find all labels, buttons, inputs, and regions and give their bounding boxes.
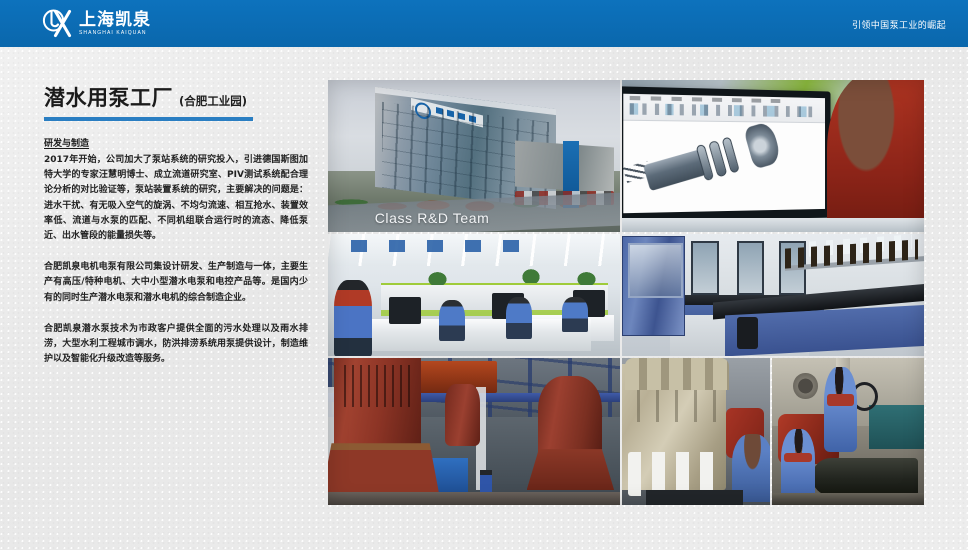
slide-header-bar: 上海凯泉 SHANGHAI KAIQUAN 引领中国泵工业的崛起 xyxy=(0,0,968,47)
photo-worker-assembly xyxy=(772,358,924,505)
photo-testing-laboratory xyxy=(622,234,924,356)
logo-brand-cn: 上海凯泉 xyxy=(79,12,151,29)
title-underline-rule xyxy=(44,117,253,121)
photo-caption-rd-team: Class R&D Team xyxy=(375,210,490,226)
image-collage: Class R&D Team xyxy=(328,80,924,505)
body-paragraph-3: 合肥凯泉潜水泵技术为市政客户提供全面的污水处理以及雨水排涝，大型水利工程城市调水… xyxy=(44,322,308,368)
section-heading: 研发与制造 xyxy=(44,136,308,149)
title-subtitle: (合肥工业园) xyxy=(179,93,247,109)
text-column: 潜水用泵工厂 (合肥工业园) 研发与制造 2017年开始，公司加大了泵站系统的研… xyxy=(44,82,308,367)
photo-engineering-office xyxy=(328,234,620,356)
photo-cad-workstation xyxy=(622,80,924,232)
company-logo: 上海凯泉 SHANGHAI KAIQUAN xyxy=(42,9,151,38)
body-paragraph-1: 2017年开始，公司加大了泵站系统的研究投入，引进德国斯图加特大学的专家汪慧明博… xyxy=(44,153,308,244)
photo-diesel-engine-unit xyxy=(622,358,770,505)
title-main: 潜水用泵工厂 xyxy=(44,82,173,112)
page-title: 潜水用泵工厂 (合肥工业园) xyxy=(44,82,308,112)
kaiquan-k-monogram-icon xyxy=(42,9,72,38)
presentation-slide: 上海凯泉 SHANGHAI KAIQUAN 引领中国泵工业的崛起 潜水用泵工厂 … xyxy=(0,0,968,550)
photo-headquarters-building: Class R&D Team xyxy=(328,80,620,232)
photo-pump-assembly-hall xyxy=(328,358,620,505)
body-paragraph-2: 合肥凯泉电机电泵有限公司集设计研发、生产制造与一体，主要生产有高压/特种电机、大… xyxy=(44,260,308,306)
logo-brand-en: SHANGHAI KAIQUAN xyxy=(79,31,151,36)
header-slogan: 引领中国泵工业的崛起 xyxy=(852,18,946,31)
